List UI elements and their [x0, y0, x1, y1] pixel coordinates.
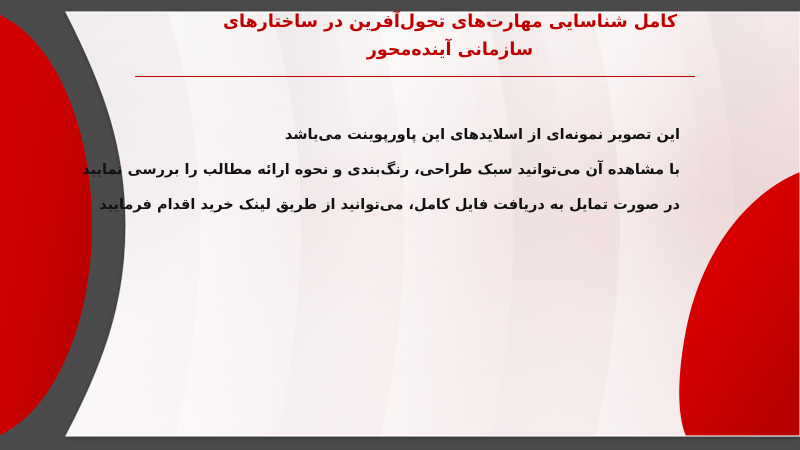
slide-body-text: این تصویر نمونه‌ای از اسلایدهای این پاور… — [110, 118, 680, 223]
slide-title: کامل شناسایی مهارت‌های تحول‌آفرین در ساخ… — [120, 8, 780, 65]
title-line-2: سازمانی آینده‌محور — [120, 36, 780, 64]
slide-canvas: کامل شناسایی مهارت‌های تحول‌آفرین در ساخ… — [0, 0, 800, 450]
body-line-3: در صورت تمایل به دریافت فایل کامل، می‌تو… — [110, 188, 680, 223]
panel-fill-group — [0, 0, 800, 450]
body-line-1: این تصویر نمونه‌ای از اسلایدهای این پاور… — [110, 118, 680, 153]
content-panel — [0, 0, 800, 450]
title-underline-rule — [135, 76, 695, 77]
title-line-1: کامل شناسایی مهارت‌های تحول‌آفرین در ساخ… — [120, 8, 780, 36]
body-line-2: با مشاهده آن می‌توانید سبک طراحی، رنگ‌بن… — [110, 153, 680, 188]
content-panel-shadow — [0, 0, 800, 450]
